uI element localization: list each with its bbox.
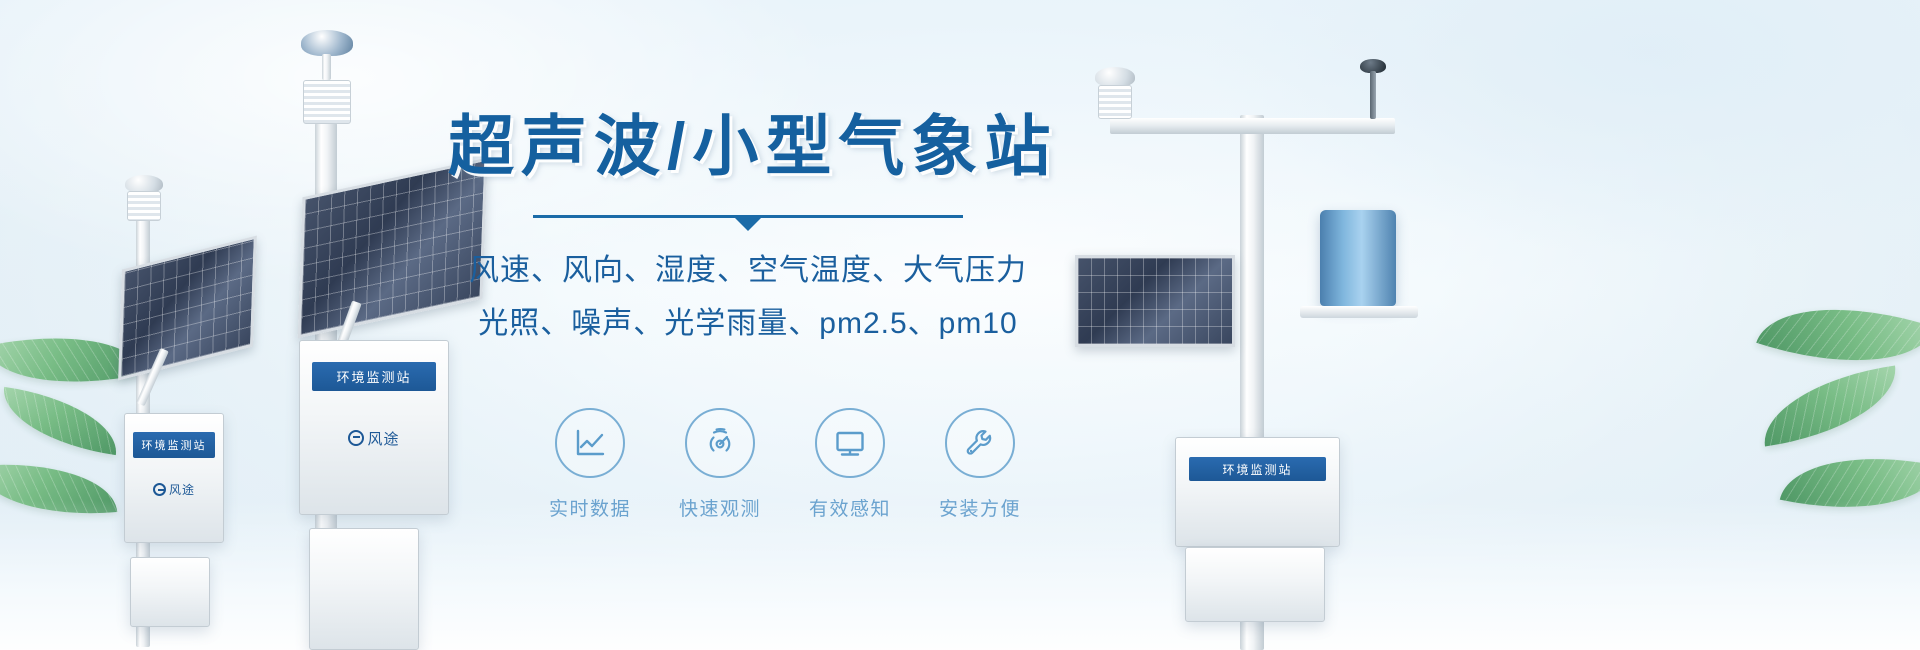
cabinet-enclosure: 环境监测站 风途 [124,413,224,543]
line-chart-icon [570,423,610,463]
feature-item-realtime-data[interactable]: 实时数据 [540,408,640,521]
signal-radar-icon [700,423,740,463]
sensor-neck [322,54,331,80]
feature-icon-ring [685,408,755,478]
cabinet-label-strip: 环境监测站 [1189,457,1326,481]
product-banner: 环境监测站 风途 环境监测站 风途 [0,0,1920,650]
radiation-shield-stack [1098,85,1132,119]
sensor-radiation-shield [127,191,161,221]
feature-label: 实时数据 [540,494,640,521]
feature-label: 快速观测 [670,494,770,521]
cabinet-label-text: 环境监测站 [1222,461,1292,478]
cabinet-label-strip: 环境监测站 [133,432,215,458]
feature-item-fast-observation[interactable]: 快速观测 [670,408,770,521]
cabinet-label-text: 环境监测站 [336,367,411,386]
monitor-icon [830,423,870,463]
leaf-decoration-right-1 [1756,276,1920,394]
feature-item-easy-install[interactable]: 安装方便 [930,408,1030,521]
leaf-decoration-right-3 [1780,435,1920,531]
brand-name: 风途 [367,431,399,448]
wind-sensor-dome [301,30,353,56]
radiation-shield-stack [303,80,351,124]
brand-mark-icon [153,483,166,496]
brand-logo: 风途 [125,481,223,498]
cabinet-enclosure: 环境监测站 风途 [299,340,449,515]
chevron-down-icon [735,218,761,231]
cabinet-label-strip: 环境监测站 [312,362,436,391]
rain-gauge [1320,210,1396,306]
subtitle-line-2: 光照、噪声、光学雨量、pm2.5、pm10 [448,300,1048,349]
feature-list: 实时数据 快速观测 [540,408,1030,521]
feature-icon-ring [945,408,1015,478]
brand-mark-icon [348,430,364,446]
cabinet-label-text: 环境监测站 [142,437,207,453]
station-left: 环境监测站 风途 [100,175,310,650]
feature-label: 有效感知 [800,494,900,521]
rain-gauge-shelf [1300,306,1418,318]
divider-with-arrow [533,213,963,227]
feature-icon-ring [555,408,625,478]
feature-label: 安装方便 [930,494,1030,521]
cabinet-enclosure: 环境监测站 [1175,437,1340,547]
cross-arm [1110,118,1395,134]
solar-panel [1075,255,1235,347]
subtitle-line-1: 风速、风向、湿度、空气温度、大气压力 [448,247,1048,296]
feature-icon-ring [815,408,885,478]
headline-block: 超声波/小型气象站 风速、风向、湿度、空气温度、大气压力 光照、噪声、光学雨量、… [448,112,1048,348]
anemometer-stem [1370,71,1376,119]
page-title: 超声波/小型气象站 [448,112,1048,181]
leaf-decoration-right-2 [1756,366,1903,447]
base-plinth [309,528,419,650]
battery-enclosure [130,557,210,627]
feature-item-effective-sensing[interactable]: 有效感知 [800,408,900,521]
wrench-icon [960,423,1000,463]
brand-logo: 风途 [300,428,448,449]
brand-name: 风途 [169,483,195,497]
ultrasonic-wind-sensor [1095,67,1135,87]
lower-enclosure [1185,547,1325,622]
station-right: 环境监测站 [1065,55,1445,650]
